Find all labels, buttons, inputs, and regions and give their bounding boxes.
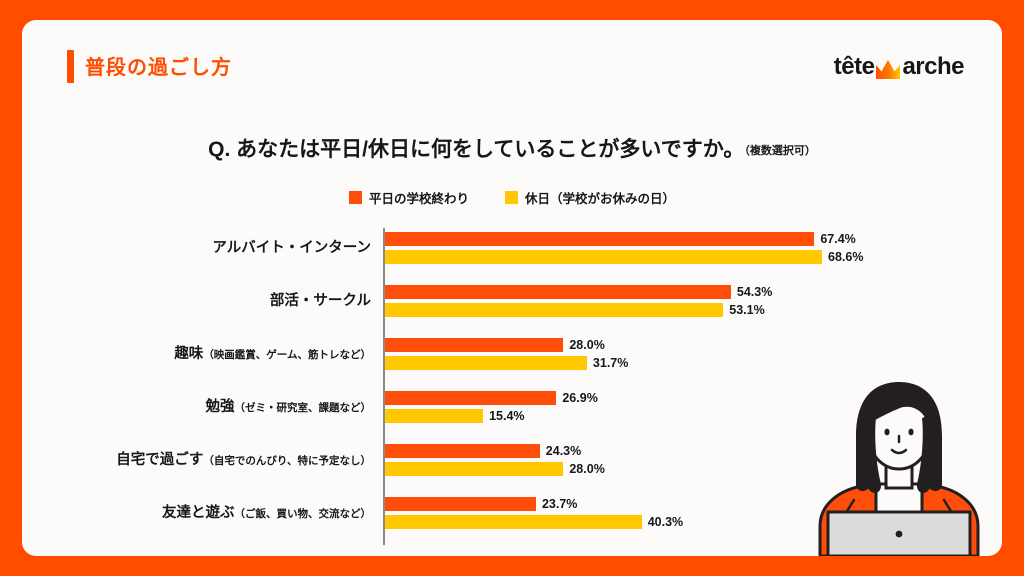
bar-weekday <box>385 338 563 352</box>
category-label: 友達と遊ぶ（ご飯、買い物、交流など） <box>162 501 371 522</box>
bar-value-label: 28.0% <box>569 338 604 352</box>
legend-item-weekday: 平日の学校終わり <box>349 188 469 207</box>
category-label-main: 友達と遊ぶ <box>162 505 235 521</box>
bar-value-label: 54.3% <box>737 285 772 299</box>
bar-row: 53.1% <box>385 303 765 317</box>
page-title: 普段の過ごし方 <box>85 51 232 80</box>
bar-holiday <box>385 462 563 476</box>
legend-swatch-weekday <box>349 191 362 204</box>
logo-text-left: tête <box>834 55 875 79</box>
category-label: 部活・サークル <box>270 289 371 310</box>
header-accent-bar <box>67 50 74 83</box>
slide-card: 普段の過ごし方 tête arc <box>22 20 1002 556</box>
bar-value-label: 24.3% <box>546 444 581 458</box>
bar-row: 31.7% <box>385 356 628 370</box>
bar-row: 28.0% <box>385 338 605 352</box>
bar-row: 67.4% <box>385 232 856 246</box>
bar-weekday <box>385 232 814 246</box>
bar-weekday <box>385 497 536 511</box>
bar-row: 24.3% <box>385 444 581 458</box>
woman-with-laptop-illustration <box>804 366 994 556</box>
category-label-main: 自宅で過ごす <box>116 452 203 468</box>
legend-label-weekday: 平日の学校終わり <box>369 188 469 207</box>
bar-row: 15.4% <box>385 409 525 423</box>
legend-label-holiday: 休日（学校がお休みの日） <box>525 188 675 207</box>
chart-group: アルバイト・インターン67.4%68.6% <box>22 230 1002 266</box>
question-note-text: （複数選択可） <box>744 145 816 157</box>
category-label-main: 部活・サークル <box>270 293 371 309</box>
bar-value-label: 67.4% <box>820 232 855 246</box>
bar-value-label: 26.9% <box>562 391 597 405</box>
category-label-main: 趣味 <box>174 346 203 362</box>
category-label-main: アルバイト・インターン <box>212 240 371 256</box>
category-label: 趣味（映画鑑賞、ゲーム、筋トレなど） <box>174 342 371 363</box>
bar-value-label: 28.0% <box>569 462 604 476</box>
bar-weekday <box>385 391 556 405</box>
bar-holiday <box>385 303 723 317</box>
bar-holiday <box>385 409 483 423</box>
legend-swatch-holiday <box>505 191 518 204</box>
bar-value-label: 31.7% <box>593 356 628 370</box>
bar-row: 68.6% <box>385 250 863 264</box>
bar-weekday <box>385 285 731 299</box>
bar-row: 40.3% <box>385 515 683 529</box>
question-heading: Q. あなたは平日/休日に何をしていることが多いですか。（複数選択可） <box>22 133 1002 163</box>
legend-item-holiday: 休日（学校がお休みの日） <box>505 188 675 207</box>
bar-value-label: 15.4% <box>489 409 524 423</box>
category-label-sub: （ご飯、買い物、交流など） <box>235 508 372 520</box>
category-label: 勉強（ゼミ・研究室、課題など） <box>206 395 372 416</box>
category-label-sub: （自宅でのんびり、特に予定なし） <box>203 455 371 467</box>
crown-m-icon <box>875 58 901 80</box>
bar-row: 26.9% <box>385 391 598 405</box>
header: 普段の過ごし方 tête arc <box>22 20 1002 92</box>
bar-holiday <box>385 515 642 529</box>
bar-value-label: 53.1% <box>729 303 764 317</box>
bar-value-label: 68.6% <box>828 250 863 264</box>
bar-holiday <box>385 356 587 370</box>
brand-logo: tête arche <box>834 52 964 82</box>
category-label-sub: （映画鑑賞、ゲーム、筋トレなど） <box>203 349 371 361</box>
bar-value-label: 23.7% <box>542 497 577 511</box>
bar-holiday <box>385 250 822 264</box>
category-label: アルバイト・インターン <box>212 236 371 257</box>
bar-row: 23.7% <box>385 497 577 511</box>
question-main-text: Q. あなたは平日/休日に何をしていることが多いですか。 <box>208 138 744 161</box>
logo-text-right: arche <box>902 55 964 79</box>
category-label-main: 勉強 <box>206 399 235 415</box>
chart-group: 部活・サークル54.3%53.1% <box>22 283 1002 319</box>
chart-legend: 平日の学校終わり 休日（学校がお休みの日） <box>22 188 1002 207</box>
category-label: 自宅で過ごす（自宅でのんびり、特に予定なし） <box>116 448 371 469</box>
bar-row: 54.3% <box>385 285 772 299</box>
category-label-sub: （ゼミ・研究室、課題など） <box>235 402 372 414</box>
bar-row: 28.0% <box>385 462 605 476</box>
bar-weekday <box>385 444 540 458</box>
slide-background: 普段の過ごし方 tête arc <box>0 0 1024 576</box>
bar-value-label: 40.3% <box>648 515 683 529</box>
